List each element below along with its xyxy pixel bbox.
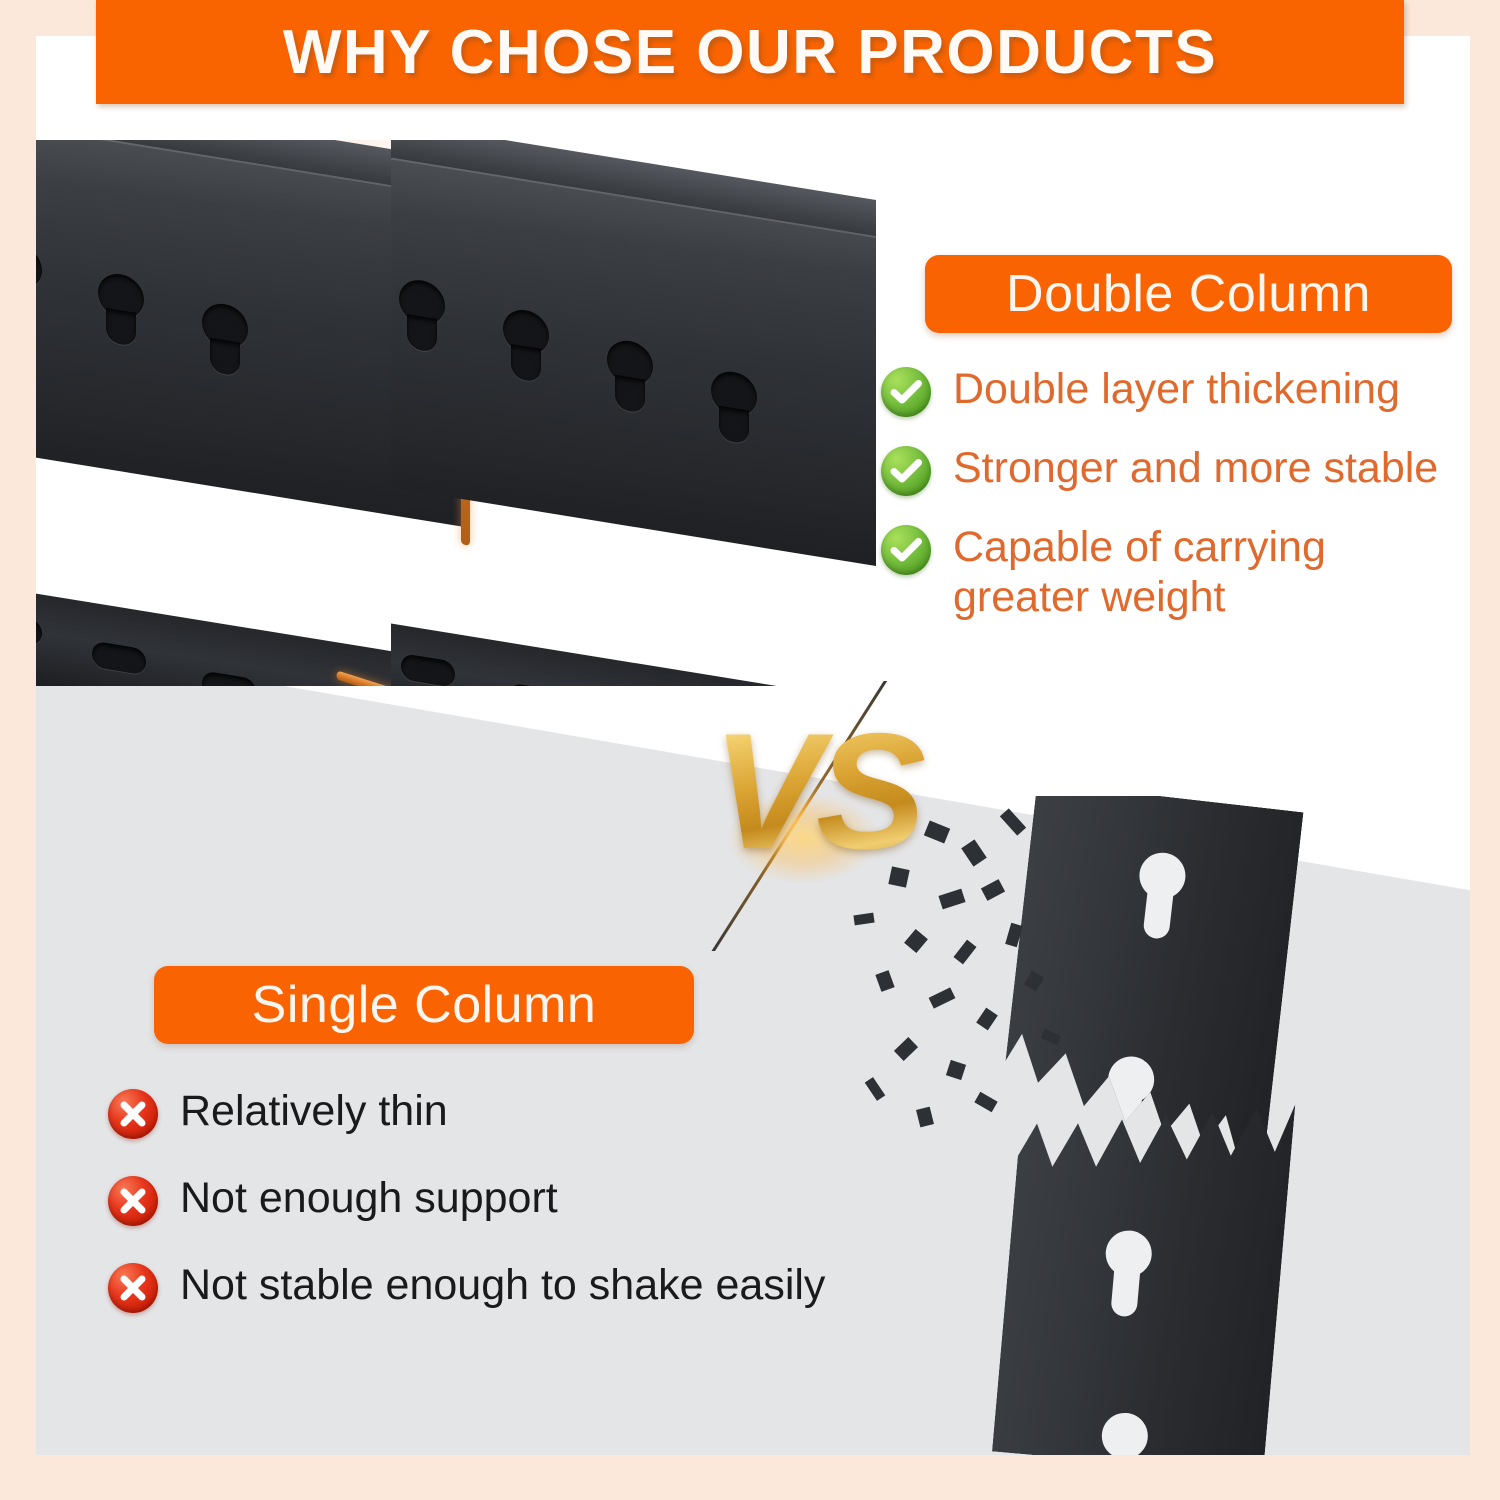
header-banner: WHY CHOSE OUR PRODUCTS bbox=[96, 0, 1404, 104]
lower-slot bbox=[92, 641, 146, 676]
debris-shard bbox=[981, 879, 1005, 901]
keyhole-slot-neck bbox=[407, 314, 437, 353]
keyhole-slot-neck bbox=[106, 308, 136, 347]
lower-slot bbox=[401, 653, 455, 686]
debris-shard bbox=[894, 1037, 918, 1061]
double-column-badge: Double Column bbox=[925, 255, 1452, 333]
keyhole-slot-neck bbox=[719, 406, 749, 445]
debris-shard bbox=[929, 987, 956, 1008]
check-circle-icon bbox=[881, 525, 931, 575]
debris-shard bbox=[974, 1092, 997, 1112]
debris-shard bbox=[875, 970, 894, 992]
check-circle-icon bbox=[881, 367, 931, 417]
rail-front bbox=[391, 198, 876, 668]
list-item-label: Not stable enough to shake easily bbox=[180, 1260, 825, 1310]
content-panel: Double Column Double layer thickening S bbox=[36, 36, 1470, 1455]
list-item-label: Not enough support bbox=[180, 1173, 558, 1223]
debris-shard bbox=[946, 1060, 966, 1080]
keyhole-slot-neck bbox=[511, 344, 541, 383]
lower-slot bbox=[202, 670, 256, 686]
lower-slot bbox=[36, 612, 42, 647]
keyhole-slot-neck bbox=[1110, 1267, 1140, 1317]
single-column-drawbacks-list: Relatively thin Not enough support Not s… bbox=[108, 1086, 968, 1347]
list-item: Not stable enough to shake easily bbox=[108, 1260, 968, 1313]
lower-slot bbox=[509, 683, 563, 686]
keyhole-slot bbox=[1100, 1411, 1150, 1455]
list-item-label: Capable of carrying greater weight bbox=[953, 522, 1393, 622]
double-column-badge-label: Double Column bbox=[1006, 264, 1371, 324]
cross-circle-icon bbox=[108, 1089, 158, 1139]
list-item: Stronger and more stable bbox=[881, 443, 1470, 496]
list-item: Capable of carrying greater weight bbox=[881, 522, 1470, 622]
debris-shard bbox=[976, 1008, 998, 1031]
list-item: Double layer thickening bbox=[881, 364, 1470, 417]
list-item: Relatively thin bbox=[108, 1086, 968, 1139]
versus-badge: VS bbox=[656, 681, 976, 951]
keyhole-slot-neck bbox=[615, 375, 645, 414]
keyhole-slot bbox=[36, 241, 42, 292]
check-circle-icon bbox=[881, 446, 931, 496]
list-item-label: Double layer thickening bbox=[953, 364, 1400, 414]
cross-circle-icon bbox=[108, 1176, 158, 1226]
cross-circle-icon bbox=[108, 1263, 158, 1313]
double-column-rails-photo bbox=[36, 140, 876, 686]
list-item-label: Relatively thin bbox=[180, 1086, 448, 1136]
single-column-badge-label: Single Column bbox=[252, 975, 597, 1035]
keyhole-slot-neck bbox=[1142, 889, 1173, 940]
single-column-badge: Single Column bbox=[154, 966, 694, 1044]
page-title: WHY CHOSE OUR PRODUCTS bbox=[283, 17, 1217, 88]
broken-post-lower-segment bbox=[992, 1073, 1296, 1455]
versus-label: VS bbox=[656, 709, 976, 874]
list-item: Not enough support bbox=[108, 1173, 968, 1226]
double-column-benefits-list: Double layer thickening Stronger and mor… bbox=[881, 364, 1470, 648]
keyhole-slot-neck bbox=[210, 338, 240, 377]
list-item-label: Stronger and more stable bbox=[953, 443, 1438, 493]
debris-shard bbox=[1000, 808, 1026, 835]
infographic-poster: Double Column Double layer thickening S bbox=[0, 0, 1500, 1500]
